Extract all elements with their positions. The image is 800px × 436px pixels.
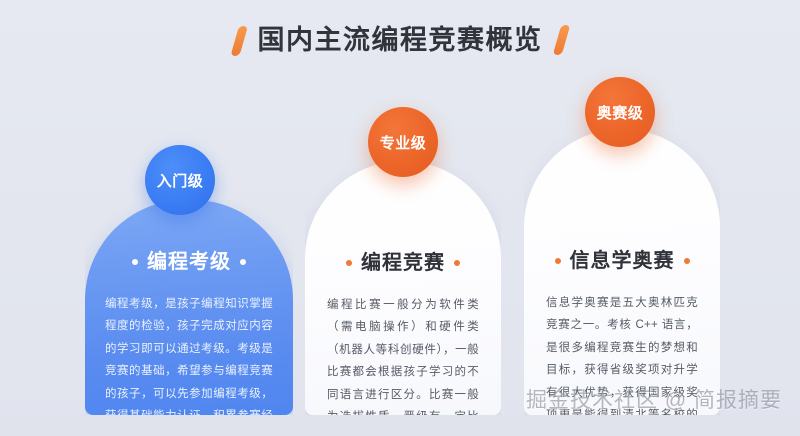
card-beginner-title-row: 编程考级: [85, 252, 293, 272]
bottom-strip: [0, 415, 800, 436]
dot-decoration-left-icon: [346, 260, 352, 266]
infographic-canvas: 国内主流编程竞赛概览 编程考级 编程考级，是孩子编程知识掌握程度的检验，孩子完成…: [0, 0, 800, 436]
dot-decoration-right-icon: [684, 258, 690, 264]
card-beginner-title: 编程考级: [147, 252, 231, 272]
card-beginner-surface: 编程考级 编程考级，是孩子编程知识掌握程度的检验，孩子完成对应内容的学习即可以通…: [85, 200, 293, 415]
card-professional-title-row: 编程竞赛: [305, 253, 501, 273]
watermark: 掘金技术社区 @ 简报摘要: [526, 384, 782, 414]
dot-decoration-right-icon: [454, 260, 460, 266]
dot-decoration-right-icon: [240, 259, 246, 265]
page-title: 国内主流编程竞赛概览: [258, 27, 543, 54]
dot-decoration-left-icon: [132, 259, 138, 265]
card-professional-body: 编程比赛一般分为软件类（需电脑操作）和硬件类（机器人等科创硬件），一般比赛都会根…: [327, 294, 479, 415]
dot-decoration-left-icon: [555, 258, 561, 264]
slash-decoration-right-icon: [552, 25, 570, 55]
slash-decoration-left-icon: [230, 26, 248, 56]
card-beginner[interactable]: 编程考级 编程考级，是孩子编程知识掌握程度的检验，孩子完成对应内容的学习即可以通…: [85, 200, 293, 415]
card-professional-title: 编程竞赛: [361, 253, 445, 273]
card-olympiad-title-row: 信息学奥赛: [524, 251, 720, 271]
badge-beginner[interactable]: 入门级: [145, 145, 215, 215]
badge-professional[interactable]: 专业级: [368, 107, 438, 177]
card-olympiad-title: 信息学奥赛: [570, 251, 675, 271]
card-beginner-body: 编程考级，是孩子编程知识掌握程度的检验，孩子完成对应内容的学习即可以通过考级。考…: [105, 293, 273, 415]
card-professional[interactable]: 编程竞赛 编程比赛一般分为软件类（需电脑操作）和硬件类（机器人等科创硬件），一般…: [305, 161, 501, 415]
card-olympiad-surface: 信息学奥赛 信息学奥赛是五大奥林匹克竞赛之一。考核 C++ 语言，是很多编程竞赛…: [524, 129, 720, 415]
badge-olympiad[interactable]: 奥赛级: [585, 77, 655, 147]
card-olympiad[interactable]: 信息学奥赛 信息学奥赛是五大奥林匹克竞赛之一。考核 C++ 语言，是很多编程竞赛…: [524, 129, 720, 415]
page-title-row: 国内主流编程竞赛概览: [0, 17, 800, 63]
card-professional-surface: 编程竞赛 编程比赛一般分为软件类（需电脑操作）和硬件类（机器人等科创硬件），一般…: [305, 161, 501, 415]
